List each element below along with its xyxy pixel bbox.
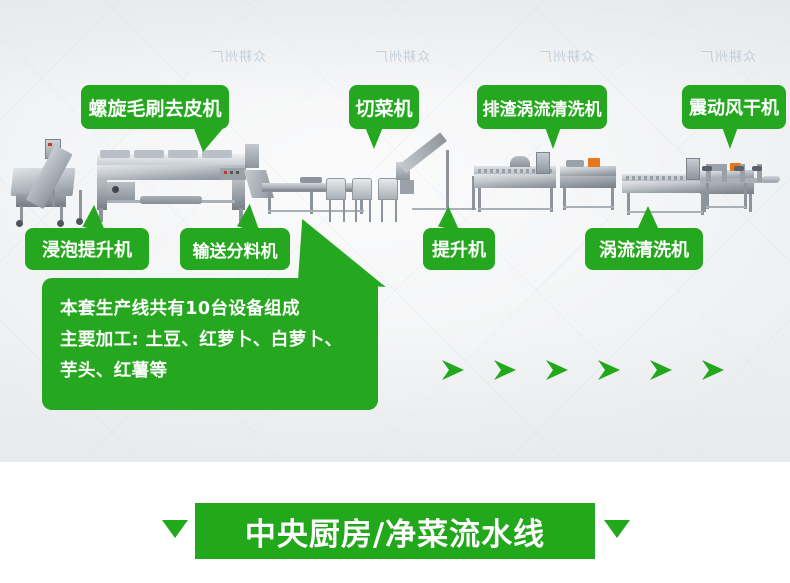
dryer-fan-3 bbox=[752, 166, 762, 171]
callout-tail-vortex-washer bbox=[637, 206, 659, 230]
machine-slag-vortex-washer bbox=[474, 174, 556, 188]
arrow-chevron-icon-5 bbox=[648, 358, 674, 382]
machine-vortex-washer-2 bbox=[560, 176, 616, 188]
callout-label: 螺旋毛刷去皮机 bbox=[88, 94, 221, 121]
peeler-control-face bbox=[220, 168, 246, 180]
peeler-lid-2 bbox=[134, 150, 164, 158]
button-2 bbox=[236, 171, 239, 174]
machine-dewatering-tank bbox=[622, 181, 708, 193]
peeler-drum bbox=[140, 196, 202, 204]
banner-title: 中央厨房/净菜流水线 bbox=[245, 509, 545, 554]
callout-tail-vegetable-cutter bbox=[365, 127, 383, 149]
arrow-chevron-icon-2 bbox=[492, 358, 518, 382]
indicator-light-2 bbox=[224, 171, 227, 174]
callout-label: 浸泡提升机 bbox=[42, 236, 132, 262]
button-1 bbox=[230, 171, 233, 174]
banner-caret-right-icon bbox=[604, 520, 630, 538]
watermark-4: 众耕州厂 bbox=[700, 46, 756, 65]
peeler-lid-1 bbox=[100, 150, 130, 158]
watermark-2: 众耕州厂 bbox=[374, 46, 430, 65]
machine-cutter-body bbox=[400, 180, 414, 194]
dryer-post-2 bbox=[722, 164, 727, 182]
callout-spiral-brush-peeler[interactable]: 螺旋毛刷去皮机 bbox=[81, 85, 229, 129]
washer2-pump bbox=[566, 160, 584, 167]
callout-label: 排渣涡流清洗机 bbox=[483, 95, 602, 120]
dryer-fan-2 bbox=[734, 166, 744, 171]
dryer-outlet bbox=[762, 176, 780, 182]
watermark-3: 众耕州厂 bbox=[538, 46, 594, 65]
callout-vortex-washer[interactable]: 涡流清洗机 bbox=[585, 228, 703, 270]
info-line-1: 本套生产线共有10台设备组成 bbox=[60, 294, 378, 325]
callout-tail-spiral-brush-peeler bbox=[193, 126, 225, 152]
caster-wheel-2 bbox=[57, 220, 64, 227]
washer2-top bbox=[560, 166, 616, 176]
callout-conveying-distributor[interactable]: 输送分料机 bbox=[180, 228, 290, 270]
info-line-3: 芋头、红薯等 bbox=[60, 356, 378, 387]
indicator-light-red bbox=[48, 143, 52, 146]
callout-slag-vortex-washer[interactable]: 排渣涡流清洗机 bbox=[477, 85, 607, 129]
caster-wheel-1 bbox=[16, 220, 23, 227]
sorting-station-2 bbox=[352, 178, 372, 200]
machine-control-box-3 bbox=[536, 152, 550, 174]
arrow-chevron-icon-3 bbox=[544, 358, 570, 382]
banner-caret-left-icon bbox=[162, 520, 188, 538]
dryer-fan-1 bbox=[702, 166, 712, 171]
machine-control-box-4 bbox=[686, 158, 700, 180]
callout-vibration-air-dryer[interactable]: 震动风干机 bbox=[682, 85, 786, 129]
callout-tail-slag-vortex-washer bbox=[545, 127, 561, 149]
callout-elevator[interactable]: 提升机 bbox=[423, 228, 495, 270]
watermark-1: 众耕州厂 bbox=[210, 46, 266, 65]
bottom-banner: 中央厨房/净菜流水线 bbox=[195, 503, 595, 559]
info-panel-tail bbox=[298, 219, 390, 287]
callout-label: 切菜机 bbox=[355, 94, 412, 121]
peeler-access-panel bbox=[107, 182, 135, 200]
sorting-station-1 bbox=[326, 178, 346, 200]
peeler-port bbox=[112, 186, 119, 193]
product-infographic: 众耕州厂 众耕州厂 众耕州厂 众耕州厂 bbox=[0, 0, 790, 583]
callout-tail-vibration-air-dryer bbox=[722, 127, 738, 149]
info-panel: 本套生产线共有10台设备组成 主要加工: 土豆、红萝卜、白萝卜、 芋头、红薯等 bbox=[42, 278, 378, 410]
sorting-station-3 bbox=[378, 178, 398, 200]
arrow-chevron-icon-1 bbox=[440, 358, 466, 382]
arrow-chevron-icon-4 bbox=[596, 358, 622, 382]
callout-label: 输送分料机 bbox=[193, 237, 278, 262]
callout-label: 震动风干机 bbox=[689, 94, 779, 120]
callout-soaking-elevator[interactable]: 浸泡提升机 bbox=[25, 228, 149, 270]
arrow-chevron-icon-6 bbox=[700, 358, 726, 382]
callout-label: 涡流清洗机 bbox=[599, 236, 689, 262]
machine-control-box-2 bbox=[245, 144, 259, 168]
washer1-hood bbox=[510, 156, 530, 167]
callout-vegetable-cutter[interactable]: 切菜机 bbox=[349, 85, 419, 129]
callout-label: 提升机 bbox=[432, 236, 486, 262]
conveyor-motor bbox=[300, 177, 322, 183]
info-line-2: 主要加工: 土豆、红萝卜、白萝卜、 bbox=[60, 325, 378, 356]
